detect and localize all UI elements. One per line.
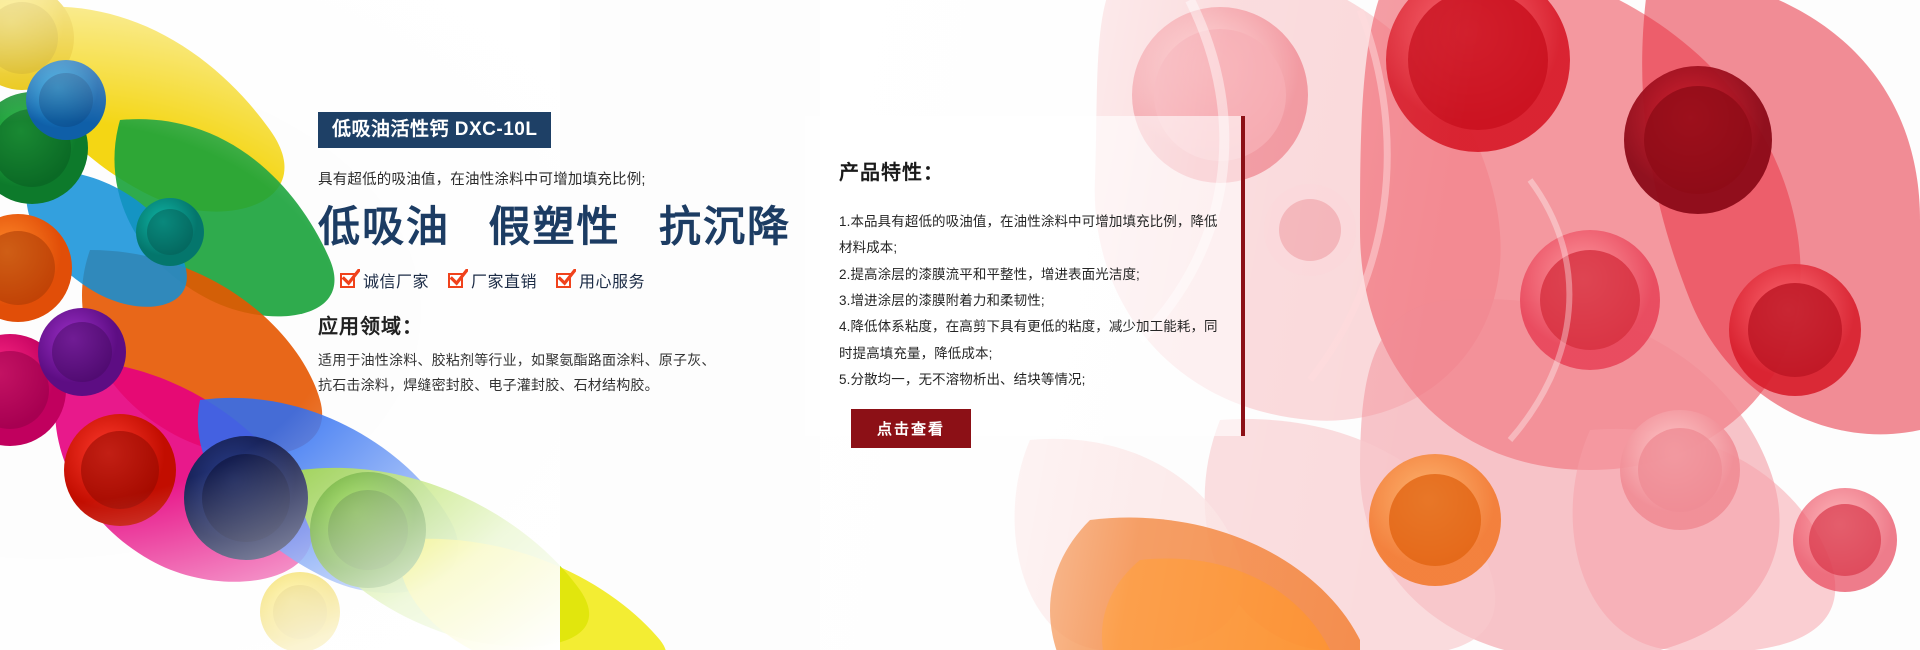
- feature-item: 4.降低体系粘度，在高剪下具有更低的粘度，减少加工能耗，同时提高填充量，降低成本…: [839, 314, 1219, 367]
- checkbox-checked-icon: [556, 272, 573, 289]
- trust-badge: 厂家直销: [448, 268, 537, 292]
- product-headline: 低吸油 假塑性 抗沉降: [318, 204, 738, 252]
- headline-word-1: 低吸油: [318, 205, 450, 251]
- feature-item: 1.本品具有超低的吸油值，在油性涂料中可增加填充比例，降低材料成本;: [839, 209, 1219, 262]
- trust-badge: 用心服务: [556, 268, 645, 292]
- trust-badge: 诚信厂家: [340, 268, 429, 292]
- product-subline: 具有超低的吸油值，在油性涂料中可增加填充比例;: [318, 170, 738, 192]
- product-features-panel: 产品特性： 1.本品具有超低的吸油值，在油性涂料中可增加填充比例，降低材料成本;…: [805, 116, 1245, 436]
- trust-badges: 诚信厂家 厂家直销 用心服务: [340, 268, 738, 292]
- checkbox-checked-icon: [448, 272, 465, 289]
- headline-word-2: 假塑性: [489, 205, 621, 251]
- trust-badge-label: 诚信厂家: [363, 268, 429, 292]
- panel-title: 产品特性：: [839, 156, 1219, 185]
- trust-badge-label: 厂家直销: [471, 268, 537, 292]
- feature-item: 5.分散均一，无不溶物析出、结块等情况;: [839, 367, 1219, 393]
- application-body: 适用于油性涂料、胶粘剂等行业，如聚氨酯路面涂料、原子灰、抗石击涂料，焊缝密封胶、…: [318, 348, 718, 397]
- feature-list: 1.本品具有超低的吸油值，在油性涂料中可增加填充比例，降低材料成本; 2.提高涂…: [839, 209, 1219, 393]
- view-details-button[interactable]: 点击查看: [851, 409, 971, 448]
- product-info-column: 低吸油活性钙 DXC-10L 具有超低的吸油值，在油性涂料中可增加填充比例; 低…: [318, 112, 738, 397]
- headline-word-3: 抗沉降: [659, 205, 791, 251]
- trust-badge-label: 用心服务: [579, 268, 645, 292]
- application-heading: 应用领域：: [318, 310, 738, 339]
- product-banner: 低吸油活性钙 DXC-10L 具有超低的吸油值，在油性涂料中可增加填充比例; 低…: [0, 0, 1920, 650]
- feature-item: 3.增进涂层的漆膜附着力和柔韧性;: [839, 288, 1219, 314]
- checkbox-checked-icon: [340, 272, 357, 289]
- product-title-chip: 低吸油活性钙 DXC-10L: [318, 112, 551, 148]
- panel-accent-bar: [1241, 116, 1245, 436]
- feature-item: 2.提高涂层的漆膜流平和平整性，增进表面光洁度;: [839, 262, 1219, 288]
